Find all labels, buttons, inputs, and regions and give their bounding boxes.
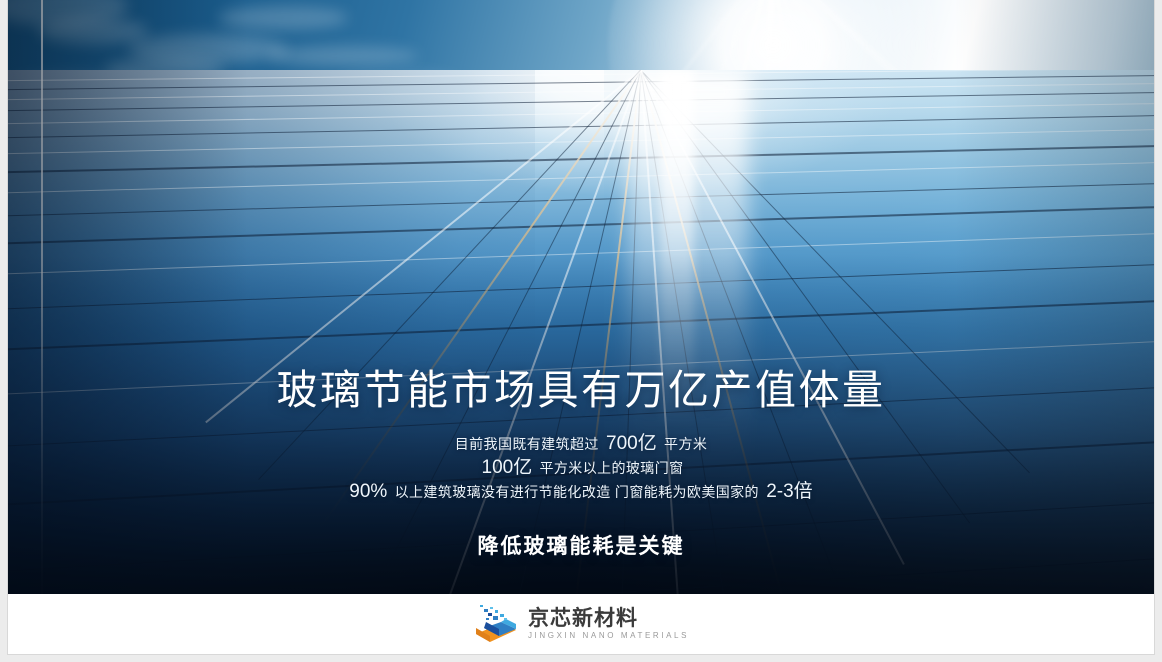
logo-name-en: JINGXIN NANO MATERIALS xyxy=(528,632,689,640)
bullet-row-2: 100亿 平方米以上的玻璃门窗 xyxy=(8,456,1154,480)
slide-canvas: 玻璃节能市场具有万亿产值体量 目前我国既有建筑超过 700亿 平方米 100亿 … xyxy=(8,0,1154,654)
bullet-2-suffix: 平方米以上的玻璃门窗 xyxy=(540,460,684,476)
bullet-row-3: 90% 以上建筑玻璃没有进行节能化改造 门窗能耗为欧美国家的 2-3倍 xyxy=(8,480,1154,504)
jingxin-logo-icon xyxy=(473,604,519,644)
logo-wordmark: 京芯新材料 JINGXIN NANO MATERIALS xyxy=(528,608,689,640)
bullet-3-number-2: 2-3倍 xyxy=(763,481,815,502)
bullet-1-suffix: 平方米 xyxy=(664,436,707,452)
bullet-3-suffix: 以上建筑玻璃没有进行节能化改造 门窗能耗为欧美国家的 xyxy=(395,484,759,500)
company-logo: 京芯新材料 JINGXIN NANO MATERIALS xyxy=(473,604,689,644)
bullet-1-number: 700亿 xyxy=(603,433,660,454)
slide-bullets: 目前我国既有建筑超过 700亿 平方米 100亿 平方米以上的玻璃门窗 90% … xyxy=(8,432,1154,504)
slide-footer: 京芯新材料 JINGXIN NANO MATERIALS xyxy=(8,594,1154,654)
slide-text-block: 玻璃节能市场具有万亿产值体量 目前我国既有建筑超过 700亿 平方米 100亿 … xyxy=(8,368,1154,560)
bullet-2-number: 100亿 xyxy=(479,457,536,478)
logo-name-cn: 京芯新材料 xyxy=(528,608,689,629)
bullet-3-number: 90% xyxy=(346,481,390,502)
hero-background-photo: 玻璃节能市场具有万亿产值体量 目前我国既有建筑超过 700亿 平方米 100亿 … xyxy=(8,0,1154,594)
slide-kicker: 降低玻璃能耗是关键 xyxy=(8,530,1154,560)
slide-headline: 玻璃节能市场具有万亿产值体量 xyxy=(8,368,1154,414)
bullet-1-prefix: 目前我国既有建筑超过 xyxy=(455,436,599,452)
presentation-page: 玻璃节能市场具有万亿产值体量 目前我国既有建筑超过 700亿 平方米 100亿 … xyxy=(0,0,1162,662)
bullet-row-1: 目前我国既有建筑超过 700亿 平方米 xyxy=(8,432,1154,456)
